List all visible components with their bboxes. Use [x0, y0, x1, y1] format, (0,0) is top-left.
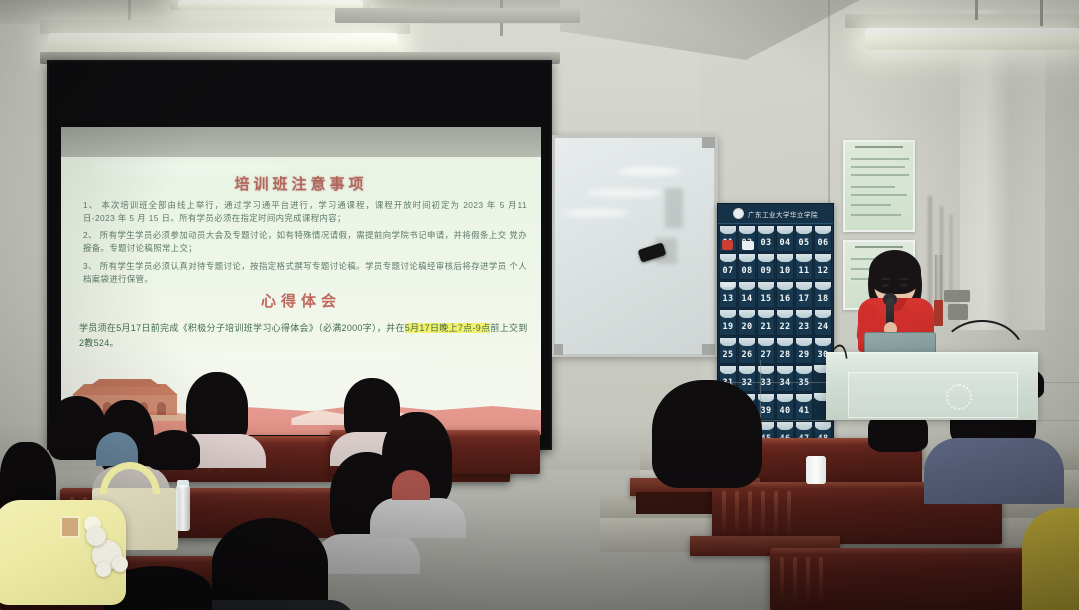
whiteboard-glare-3	[563, 210, 629, 216]
person-torso	[392, 470, 430, 500]
bench-slat	[806, 557, 810, 606]
pocket-slot-number: 11	[798, 266, 809, 276]
slide-canvas: 培训班注意事项 1、 本次培训班全部由线上举行，通过学习通平台进行，学习通课程，…	[61, 157, 541, 435]
slide-paragraph-2: 2、 所有学生学员必须参加动员大会及专题讨论，如有特殊情况请假，需提前向学院书记…	[83, 229, 527, 255]
pocket-slot-28[interactable]: 28	[776, 337, 794, 364]
whiteboard-glare-1	[617, 168, 681, 175]
pocket-slot-number: 19	[722, 322, 733, 332]
pocket-slot-number: 32	[741, 378, 752, 388]
speaker-eye-right	[900, 284, 907, 287]
pocket-slot-number: 07	[722, 266, 733, 276]
pocket-slot-17[interactable]: 17	[795, 281, 813, 308]
wall-notice-lower-title	[855, 246, 903, 248]
light-hanger-4	[975, 0, 978, 20]
pocket-slot-32[interactable]: 32	[738, 365, 756, 392]
pocket-slot-number: 25	[722, 350, 733, 360]
pocket-slot-20[interactable]: 20	[738, 309, 756, 336]
pocket-slot-number: 20	[741, 322, 752, 332]
speaker-brow-right	[899, 278, 908, 280]
slide-title: 培训班注意事项	[61, 173, 541, 194]
person-hair	[148, 430, 200, 470]
pocket-slot-number: 22	[779, 322, 790, 332]
pocket-item-white	[742, 241, 754, 250]
whiteboard-corner-tr	[702, 137, 715, 148]
notice-line	[851, 166, 905, 168]
person-hair	[652, 380, 762, 488]
notice-line	[851, 186, 895, 188]
whiteboard-smudge	[665, 188, 683, 228]
pocket-slot-29[interactable]: 29	[795, 337, 813, 364]
podium	[826, 352, 1038, 420]
pocket-slot-26[interactable]: 26	[738, 337, 756, 364]
pocket-slot-number: 10	[779, 266, 790, 276]
whiteboard-glare-2	[585, 190, 663, 196]
person-hair	[212, 518, 328, 610]
plush-charm-limb-1	[112, 556, 128, 572]
pocket-slot-number: 16	[779, 294, 790, 304]
projection-glare-1	[91, 163, 291, 173]
notice-line	[851, 214, 901, 216]
slide-paragraph-3: 3、 所有学生学员必须认真对待专题讨论，按指定格式撰写专题讨论稿。学员专题讨论稿…	[83, 260, 527, 286]
person-torso	[370, 498, 466, 538]
podium-emblem-icon	[946, 384, 972, 410]
pocket-slot-number: 41	[798, 406, 809, 416]
pocket-slot-05[interactable]: 05	[795, 225, 813, 252]
slide-paragraph-1: 1、 本次培训班全部由线上举行，通过学习通平台进行，学习通课程，课程开放时间初定…	[83, 199, 527, 225]
notice-line	[851, 158, 909, 160]
speaker-hair	[869, 250, 921, 294]
person-torso	[1022, 508, 1079, 610]
pocket-slot-number: 17	[798, 294, 809, 304]
person-torso	[96, 432, 138, 466]
pocket-slot-04[interactable]: 04	[776, 225, 794, 252]
gate-door-5	[157, 402, 166, 415]
bench-slat	[787, 491, 791, 540]
pocket-slot-number: 21	[760, 322, 771, 332]
pocket-slot-number: 34	[779, 378, 790, 388]
pocket-slot-number: 14	[741, 294, 752, 304]
pocket-slot-number: 03	[760, 238, 771, 248]
pocket-slot-15[interactable]: 15	[757, 281, 775, 308]
pocket-slot-19[interactable]: 19	[719, 309, 737, 336]
person-torso	[316, 534, 420, 574]
projection-glare-2	[181, 353, 441, 361]
bench-slat	[819, 557, 823, 606]
wall-notice-upper-title	[855, 146, 903, 148]
bench-slat	[735, 491, 739, 540]
pocket-board-header: 广东工业大学华立学院	[718, 204, 833, 224]
bench-slat	[780, 557, 784, 606]
pocket-slot-09[interactable]: 09	[757, 253, 775, 280]
pocket-item-light	[722, 281, 734, 287]
slide-note-text-1: 学员须在5月17日前完成《积极分子培训班学习心得体会》（必满2000字），并在	[79, 323, 405, 333]
bench-slat	[761, 491, 765, 540]
pocket-slot-18[interactable]: 18	[814, 281, 832, 308]
light-hanger-5	[1040, 0, 1043, 26]
pocket-slot-number: 27	[760, 350, 771, 360]
pocket-slot-number: 24	[817, 322, 828, 332]
wall-panel-right	[960, 10, 1045, 330]
bench-slat	[722, 491, 726, 540]
bench-slat	[748, 491, 752, 540]
person-torso	[188, 600, 356, 610]
pocket-slot-number: 13	[722, 294, 733, 304]
pocket-slot-number: 23	[798, 322, 809, 332]
notice-line	[851, 204, 891, 206]
bench-slat	[793, 557, 797, 606]
pocket-item-red	[722, 240, 733, 250]
projector-screen: 培训班注意事项 1、 本次培训班全部由线上举行，通过学习通平台进行，学习通课程，…	[47, 60, 552, 450]
podium-front-panel	[848, 372, 1018, 418]
pocket-slot-08[interactable]: 08	[738, 253, 756, 280]
slide-note: 学员须在5月17日前完成《积极分子培训班学习心得体会》（必满2000字），并在5…	[79, 321, 531, 351]
pocket-slot-11[interactable]: 11	[795, 253, 813, 280]
pocket-slot-40[interactable]: 40	[776, 393, 794, 420]
pocket-slot-13[interactable]: 13	[719, 281, 737, 308]
pocket-slot-number: 33	[760, 378, 771, 388]
whiteboard-corner-br	[702, 344, 715, 355]
pocket-slot-16[interactable]: 16	[776, 281, 794, 308]
pocket-slot-14[interactable]: 14	[738, 281, 756, 308]
slide-top-band	[61, 127, 541, 161]
pocket-slot-01[interactable]: 01	[719, 225, 737, 252]
pocket-slot-10[interactable]: 10	[776, 253, 794, 280]
pocket-slot-35[interactable]: 35	[795, 365, 813, 392]
pocket-slot-23[interactable]: 23	[795, 309, 813, 336]
pocket-slot-number: 40	[779, 406, 790, 416]
speaker-brow-left	[881, 278, 890, 280]
pocket-slot-07[interactable]: 07	[719, 253, 737, 280]
light-housing-mid	[335, 8, 580, 23]
pocket-slot-22[interactable]: 22	[776, 309, 794, 336]
projected-slide: 培训班注意事项 1、 本次培训班全部由线上举行，通过学习通平台进行，学习通课程，…	[61, 127, 541, 435]
pocket-slot-03[interactable]: 03	[757, 225, 775, 252]
gate-roof-upper	[79, 379, 171, 387]
pocket-slot-number: 35	[798, 378, 809, 388]
pocket-slot-24[interactable]: 24	[814, 309, 832, 336]
bench-slat	[774, 491, 778, 540]
pocket-slot-number: 06	[817, 238, 828, 248]
pocket-slot-number: 04	[779, 238, 790, 248]
wall-notice-upper	[843, 140, 915, 232]
notice-line	[851, 174, 909, 176]
pocket-slot-number: 12	[817, 266, 828, 276]
plush-charm-head	[86, 526, 106, 546]
fluorescent-tube-right	[865, 28, 1079, 50]
backpack-tag	[60, 516, 80, 538]
person-torso	[924, 438, 1064, 504]
speaker-eye-left	[882, 284, 889, 287]
pocket-slot-number: 15	[760, 294, 771, 304]
pocket-slot-number: 18	[817, 294, 828, 304]
school-emblem-icon	[733, 208, 744, 219]
slide-subtitle: 心得体会	[61, 290, 541, 311]
pocket-slot-12[interactable]: 12	[814, 253, 832, 280]
pocket-slot-06[interactable]: 06	[814, 225, 832, 252]
pocket-slot-number: 26	[741, 350, 752, 360]
pocket-slot-number: 08	[741, 266, 752, 276]
fluorescent-tube-left	[48, 33, 398, 54]
pocket-slot-02[interactable]: 02	[738, 225, 756, 252]
whiteboard-corner-bl	[554, 344, 563, 355]
pocket-slot-number: 09	[760, 266, 771, 276]
pocket-slot-34[interactable]: 34	[776, 365, 794, 392]
light-housing-right	[845, 14, 1079, 28]
water-bottle	[176, 485, 190, 531]
whiteboard	[552, 135, 718, 357]
pocket-slot-number: 28	[779, 350, 790, 360]
pocket-slot-41[interactable]: 41	[795, 393, 813, 420]
notice-line	[851, 194, 907, 196]
pocket-slot-25[interactable]: 25	[719, 337, 737, 364]
pocket-slot-number: 05	[798, 238, 809, 248]
pocket-slot-number: 39	[760, 406, 771, 416]
plush-charm-limb-2	[96, 562, 111, 577]
pocket-board-school-label: 广东工业大学华立学院	[748, 209, 818, 219]
slide-note-highlight-2: 晚上7点-9点	[439, 323, 490, 333]
classroom-scene: 培训班注意事项 1、 本次培训班全部由线上举行，通过学习通平台进行，学习通课程，…	[0, 0, 1079, 610]
water-bottle-right	[806, 456, 826, 484]
pocket-slot-number: 29	[798, 350, 809, 360]
pocket-slot-21[interactable]: 21	[757, 309, 775, 336]
slide-note-highlight-1: 5月17日	[405, 323, 440, 333]
